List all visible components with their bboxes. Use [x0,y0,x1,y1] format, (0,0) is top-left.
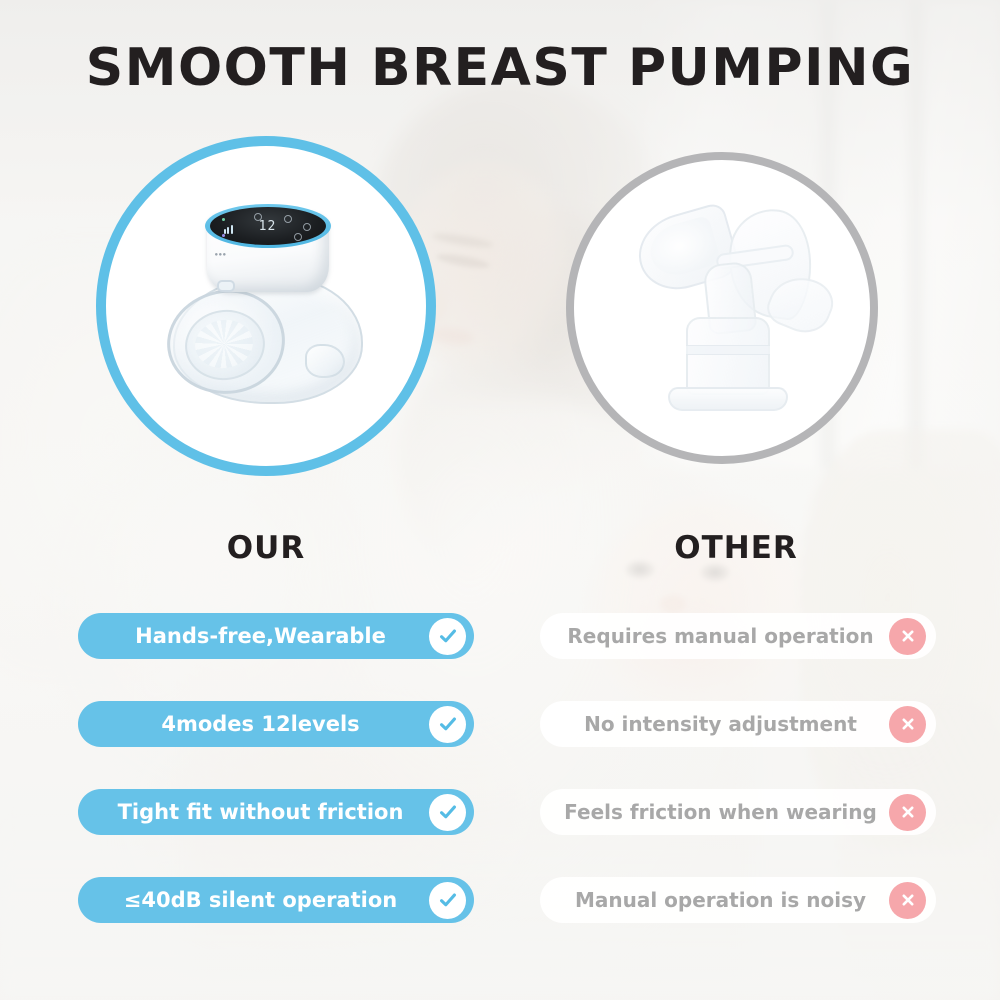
cross-icon [889,882,926,919]
feature-label: 4modes 12levels [78,712,429,736]
cross-icon [889,618,926,655]
page-title: SMOOTH BREAST PUMPING [0,38,1000,98]
feature-label: No intensity adjustment [540,712,889,736]
other-product-circle [566,152,878,464]
cross-icon [889,794,926,831]
feature-label: Tight fit without friction [78,800,429,824]
led-level-value: 12 [259,218,277,233]
manual-pump-bottle-ring [686,345,770,355]
feature-label: Manual operation is noisy [540,888,889,912]
wearable-electric-breast-pump-image: ●●● 12 [159,194,374,419]
our-product-circle: ●●● 12 [96,136,436,476]
feature-label: Feels friction when wearing [540,800,889,824]
battery-level-bars [224,225,233,234]
pump-valve-clip [217,280,235,292]
feature-label: Hands-free,Wearable [78,624,429,648]
manual-pump-base [668,387,788,411]
feature-label: ≤40dB silent operation [78,888,429,912]
feature-pill-negative[interactable]: Feels friction when wearing [540,789,936,835]
pump-brand-mark: ●●● [215,252,227,258]
pump-spout [305,344,345,378]
mode-indicator-dot [222,234,225,237]
feature-pill-positive[interactable]: 4modes 12levels [78,701,474,747]
feature-pill-negative[interactable]: Manual operation is noisy [540,877,936,923]
manual-pump-bottle [686,317,770,395]
timer-icon [284,215,292,223]
feature-label: Requires manual operation [540,624,889,648]
feature-pill-positive[interactable]: ≤40dB silent operation [78,877,474,923]
check-icon [429,794,466,831]
cross-icon [889,706,926,743]
pump-led-display: 12 [210,207,326,245]
check-icon [429,706,466,743]
level-icon [294,233,302,241]
power-icon [303,223,311,231]
other-column-label: OTHER [616,530,856,566]
manual-breast-pump-image [620,201,825,416]
feature-pill-positive[interactable]: Hands-free,Wearable [78,613,474,659]
feature-pill-negative[interactable]: Requires manual operation [540,613,936,659]
feature-pill-negative[interactable]: No intensity adjustment [540,701,936,747]
mode-indicator-dot [222,218,225,221]
our-column-label: OUR [146,530,386,566]
feature-pill-positive[interactable]: Tight fit without friction [78,789,474,835]
check-icon [429,882,466,919]
check-icon [429,618,466,655]
